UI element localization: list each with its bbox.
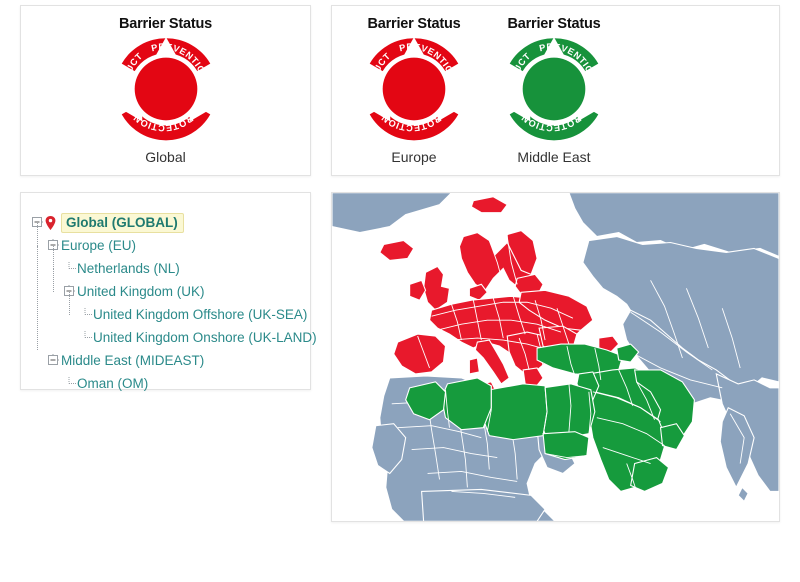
tree-connector-line xyxy=(53,269,54,292)
gauge-card-middle-east[interactable]: Barrier Status PRODUCTION xyxy=(484,16,624,165)
tree-connector-line xyxy=(53,246,54,269)
tree-node-label[interactable]: Global (GLOBAL) xyxy=(61,213,184,233)
tree-branch-icon xyxy=(79,308,92,321)
gauge-label: Global xyxy=(145,149,185,165)
tree-node-global[interactable]: Global (GLOBAL) xyxy=(31,211,310,234)
gauge-label: Middle East xyxy=(517,149,590,165)
collapse-expander-icon[interactable] xyxy=(47,354,60,367)
tree-node-label[interactable]: United Kingdom (UK) xyxy=(77,284,205,299)
tree-connector-line xyxy=(37,223,38,246)
tree-branch-end-icon xyxy=(79,331,92,344)
map-pin-icon xyxy=(45,216,58,230)
global-barrier-status-panel: Barrier Status xyxy=(20,5,311,176)
tree-branch-end-icon xyxy=(63,377,76,390)
gauge-title: Barrier Status xyxy=(367,16,460,32)
tree-node-netherlands[interactable]: Netherlands (NL) xyxy=(31,257,310,280)
barrier-status-ring-icon: PRODUCTION PREVENTION PROTECTION xyxy=(500,35,608,143)
hierarchy-tree-panel: Global (GLOBAL) Europe (EU) xyxy=(20,192,311,390)
gauge-card-global[interactable]: Barrier Status xyxy=(96,16,236,165)
tree-node-middle-east[interactable]: Middle East (MIDEAST) xyxy=(31,349,310,372)
europe-middle-east-status-map[interactable] xyxy=(332,193,779,521)
gauge-row-regions: Barrier Status PRODUCTION xyxy=(332,6,779,175)
tree-connector-line xyxy=(69,292,70,315)
world-map-svg[interactable] xyxy=(332,193,779,521)
gauge-title: Barrier Status xyxy=(119,16,212,32)
status-map-panel xyxy=(331,192,780,522)
tree-node-uk-offshore[interactable]: United Kingdom Offshore (UK-SEA) xyxy=(31,303,310,326)
gauge-label: Europe xyxy=(391,149,436,165)
tree-node-united-kingdom[interactable]: United Kingdom (UK) xyxy=(31,280,310,303)
tree-node-uk-onshore[interactable]: United Kingdom Onshore (UK-LAND) xyxy=(31,326,310,349)
tree-node-oman[interactable]: Oman (OM) xyxy=(31,372,310,395)
regional-barrier-status-panel: Barrier Status PRODUCTION xyxy=(331,5,780,176)
tree-node-label[interactable]: Middle East (MIDEAST) xyxy=(61,353,204,368)
tree-node-europe[interactable]: Europe (EU) xyxy=(31,234,310,257)
tree-node-label[interactable]: Oman (OM) xyxy=(77,376,148,391)
tree-node-label[interactable]: Europe (EU) xyxy=(61,238,136,253)
tree-branch-icon xyxy=(63,262,76,275)
location-tree: Global (GLOBAL) Europe (EU) xyxy=(21,193,310,395)
gauge-card-europe[interactable]: Barrier Status PRODUCTION xyxy=(344,16,484,165)
tree-node-label[interactable]: United Kingdom Onshore (UK-LAND) xyxy=(93,330,317,345)
barrier-status-ring-icon: PRODUCTION PREVENTION PROTECTION xyxy=(360,35,468,143)
gauge-title: Barrier Status xyxy=(507,16,600,32)
tree-node-label[interactable]: Netherlands (NL) xyxy=(77,261,180,276)
gauge-row-global: Barrier Status xyxy=(21,6,310,175)
tree-node-label[interactable]: United Kingdom Offshore (UK-SEA) xyxy=(93,307,307,322)
barrier-status-ring-icon: PRODUCTION PREVENTION PROTECTION xyxy=(112,35,220,143)
